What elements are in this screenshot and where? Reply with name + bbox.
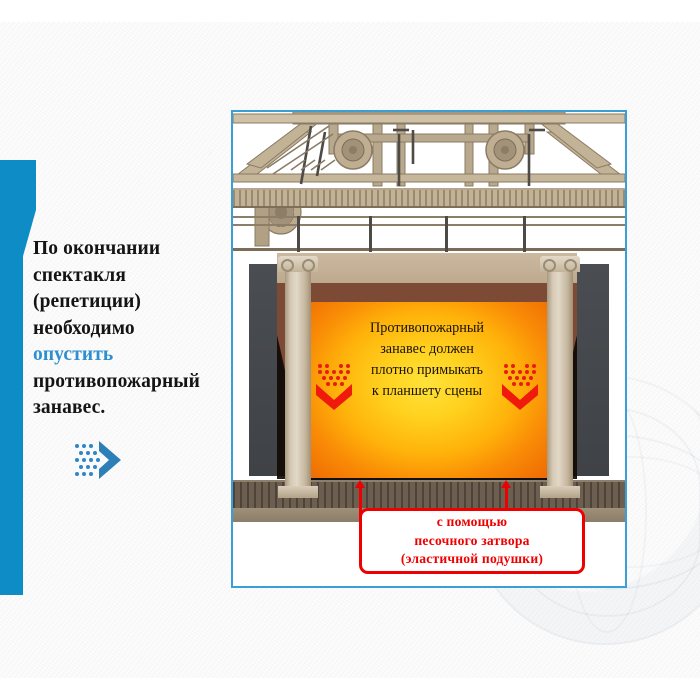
proscenium-beam — [277, 253, 577, 283]
column-base — [540, 486, 580, 498]
blue-chevron-arrow-icon — [73, 433, 131, 487]
callout-line-1: с помощью — [401, 513, 543, 531]
curtain-text-line-2: занавес должен — [295, 339, 559, 360]
curtain-text-line-3: плотно примыкать — [295, 360, 559, 381]
paragraph-highlight-word: опустить — [33, 344, 113, 365]
callout-line-3: (эластичной подушки) — [401, 550, 543, 568]
rail-post — [369, 216, 372, 252]
proscenium-column-left — [285, 270, 311, 488]
paragraph-line-3: (репетиции) — [33, 291, 141, 312]
rail-post — [445, 216, 448, 252]
fire-curtain-caption: Противопожарный занавес должен плотно пр… — [295, 318, 559, 402]
callout-text: с помощью песочного затвора (эластичной … — [401, 513, 543, 568]
paragraph-line-4: необходимо — [33, 318, 135, 339]
instruction-paragraph: По окончании спектакля (репетиции) необх… — [33, 236, 229, 422]
callout-box: с помощью песочного затвора (эластичной … — [359, 508, 585, 574]
catwalk-rail — [233, 248, 625, 251]
ionic-capital-icon — [540, 256, 580, 272]
blue-accent-bar — [0, 80, 36, 176]
rail-post — [297, 216, 300, 252]
rail-post — [523, 216, 526, 252]
paragraph-line-2: спектакля — [33, 265, 126, 286]
catwalk-rail — [233, 224, 625, 226]
catwalk-rail — [233, 216, 625, 218]
catwalk-deck — [233, 188, 625, 208]
curtain-text-line-1: Противопожарный — [295, 318, 559, 339]
blue-accent-bar-body — [0, 176, 23, 595]
proscenium-column-right — [547, 270, 573, 488]
paragraph-line-6: противопожарный — [33, 371, 200, 392]
ionic-capital-icon — [278, 256, 318, 272]
column-base — [278, 486, 318, 498]
callout-line-2: песочного затвора — [401, 532, 543, 550]
stage-rigging-roof — [233, 112, 625, 262]
stage-illustration-figure: Противопожарный занавес должен плотно пр… — [231, 110, 627, 588]
paragraph-line-1: По окончании — [33, 238, 160, 259]
illustration-inner: Противопожарный занавес должен плотно пр… — [233, 112, 625, 586]
curtain-text-line-4: к планшету сцены — [295, 381, 559, 402]
slide-canvas: По окончании спектакля (репетиции) необх… — [0, 0, 700, 700]
paragraph-line-7: занавес. — [33, 397, 105, 418]
